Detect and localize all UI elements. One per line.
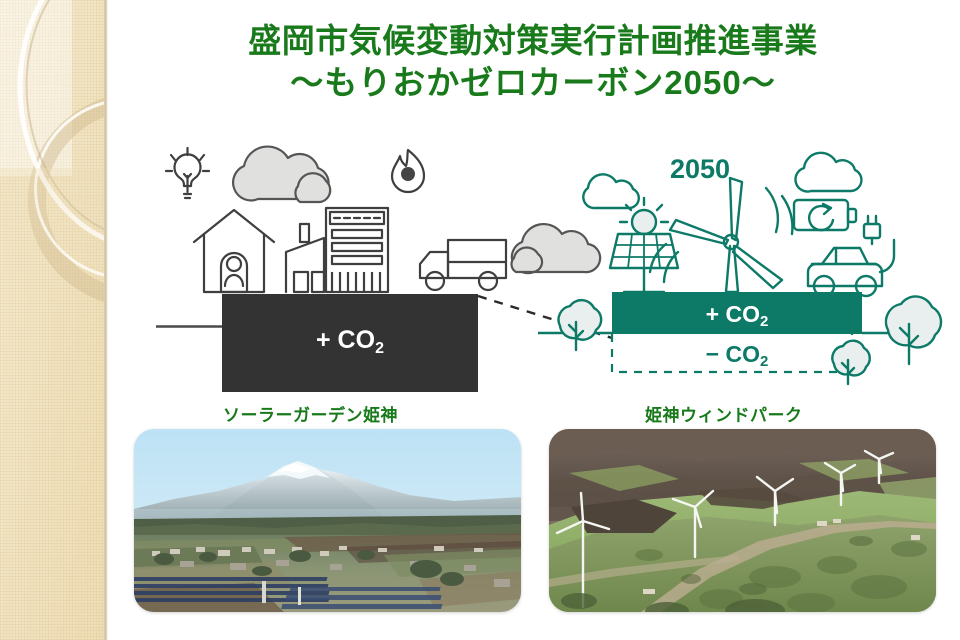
solar-panel-icon (610, 198, 678, 292)
negative-co2-label: − CO2 (706, 341, 769, 370)
factory-icon (286, 224, 324, 292)
house-icon (194, 210, 274, 292)
tree-icon (559, 300, 602, 350)
solar-garden-himekami-photo (134, 429, 521, 612)
title-line-2: ～もりおかゼロカーボン2050～ (118, 64, 948, 102)
photo-caption-wind-park: 姫神ウィンドパーク (645, 401, 803, 426)
electric-car-icon (808, 216, 894, 296)
truck-icon (420, 240, 506, 290)
sidebar-edge-divider (104, 0, 108, 640)
year-2050-label: 2050 (670, 154, 730, 184)
cloud-icon (795, 153, 861, 192)
future-co2-label: + CO2 (706, 301, 769, 330)
cloud-icon (512, 224, 601, 273)
present-co2-label: + CO2 (316, 326, 384, 357)
presentation-slide: 盛岡市気候変動対策実行計画推進事業 ～もりおかゼロカーボン2050～ .gl{f… (0, 0, 960, 640)
cloud-icon (583, 174, 639, 208)
tree-icon (886, 296, 941, 364)
slide-title: 盛岡市気候変動対策実行計画推進事業 ～もりおかゼロカーボン2050～ (118, 22, 948, 103)
photo-caption-solar-garden: ソーラーガーデン姫神 (223, 401, 398, 426)
cloud-icon (233, 147, 330, 202)
slide-decorative-sidebar (0, 0, 108, 640)
sidebar-shade (0, 168, 108, 640)
title-line-1: 盛岡市気候変動対策実行計画推進事業 (118, 22, 948, 60)
battery-recycle-icon (794, 200, 856, 230)
tree-icon (832, 341, 869, 384)
office-building-icon (326, 208, 388, 292)
himekami-wind-park-photo (549, 429, 936, 612)
lightbulb-icon (166, 148, 209, 198)
carbon-neutral-infographic: .gl{fill:none;stroke:#3f3f3f;stroke-widt… (118, 126, 956, 394)
flame-icon (392, 150, 424, 192)
